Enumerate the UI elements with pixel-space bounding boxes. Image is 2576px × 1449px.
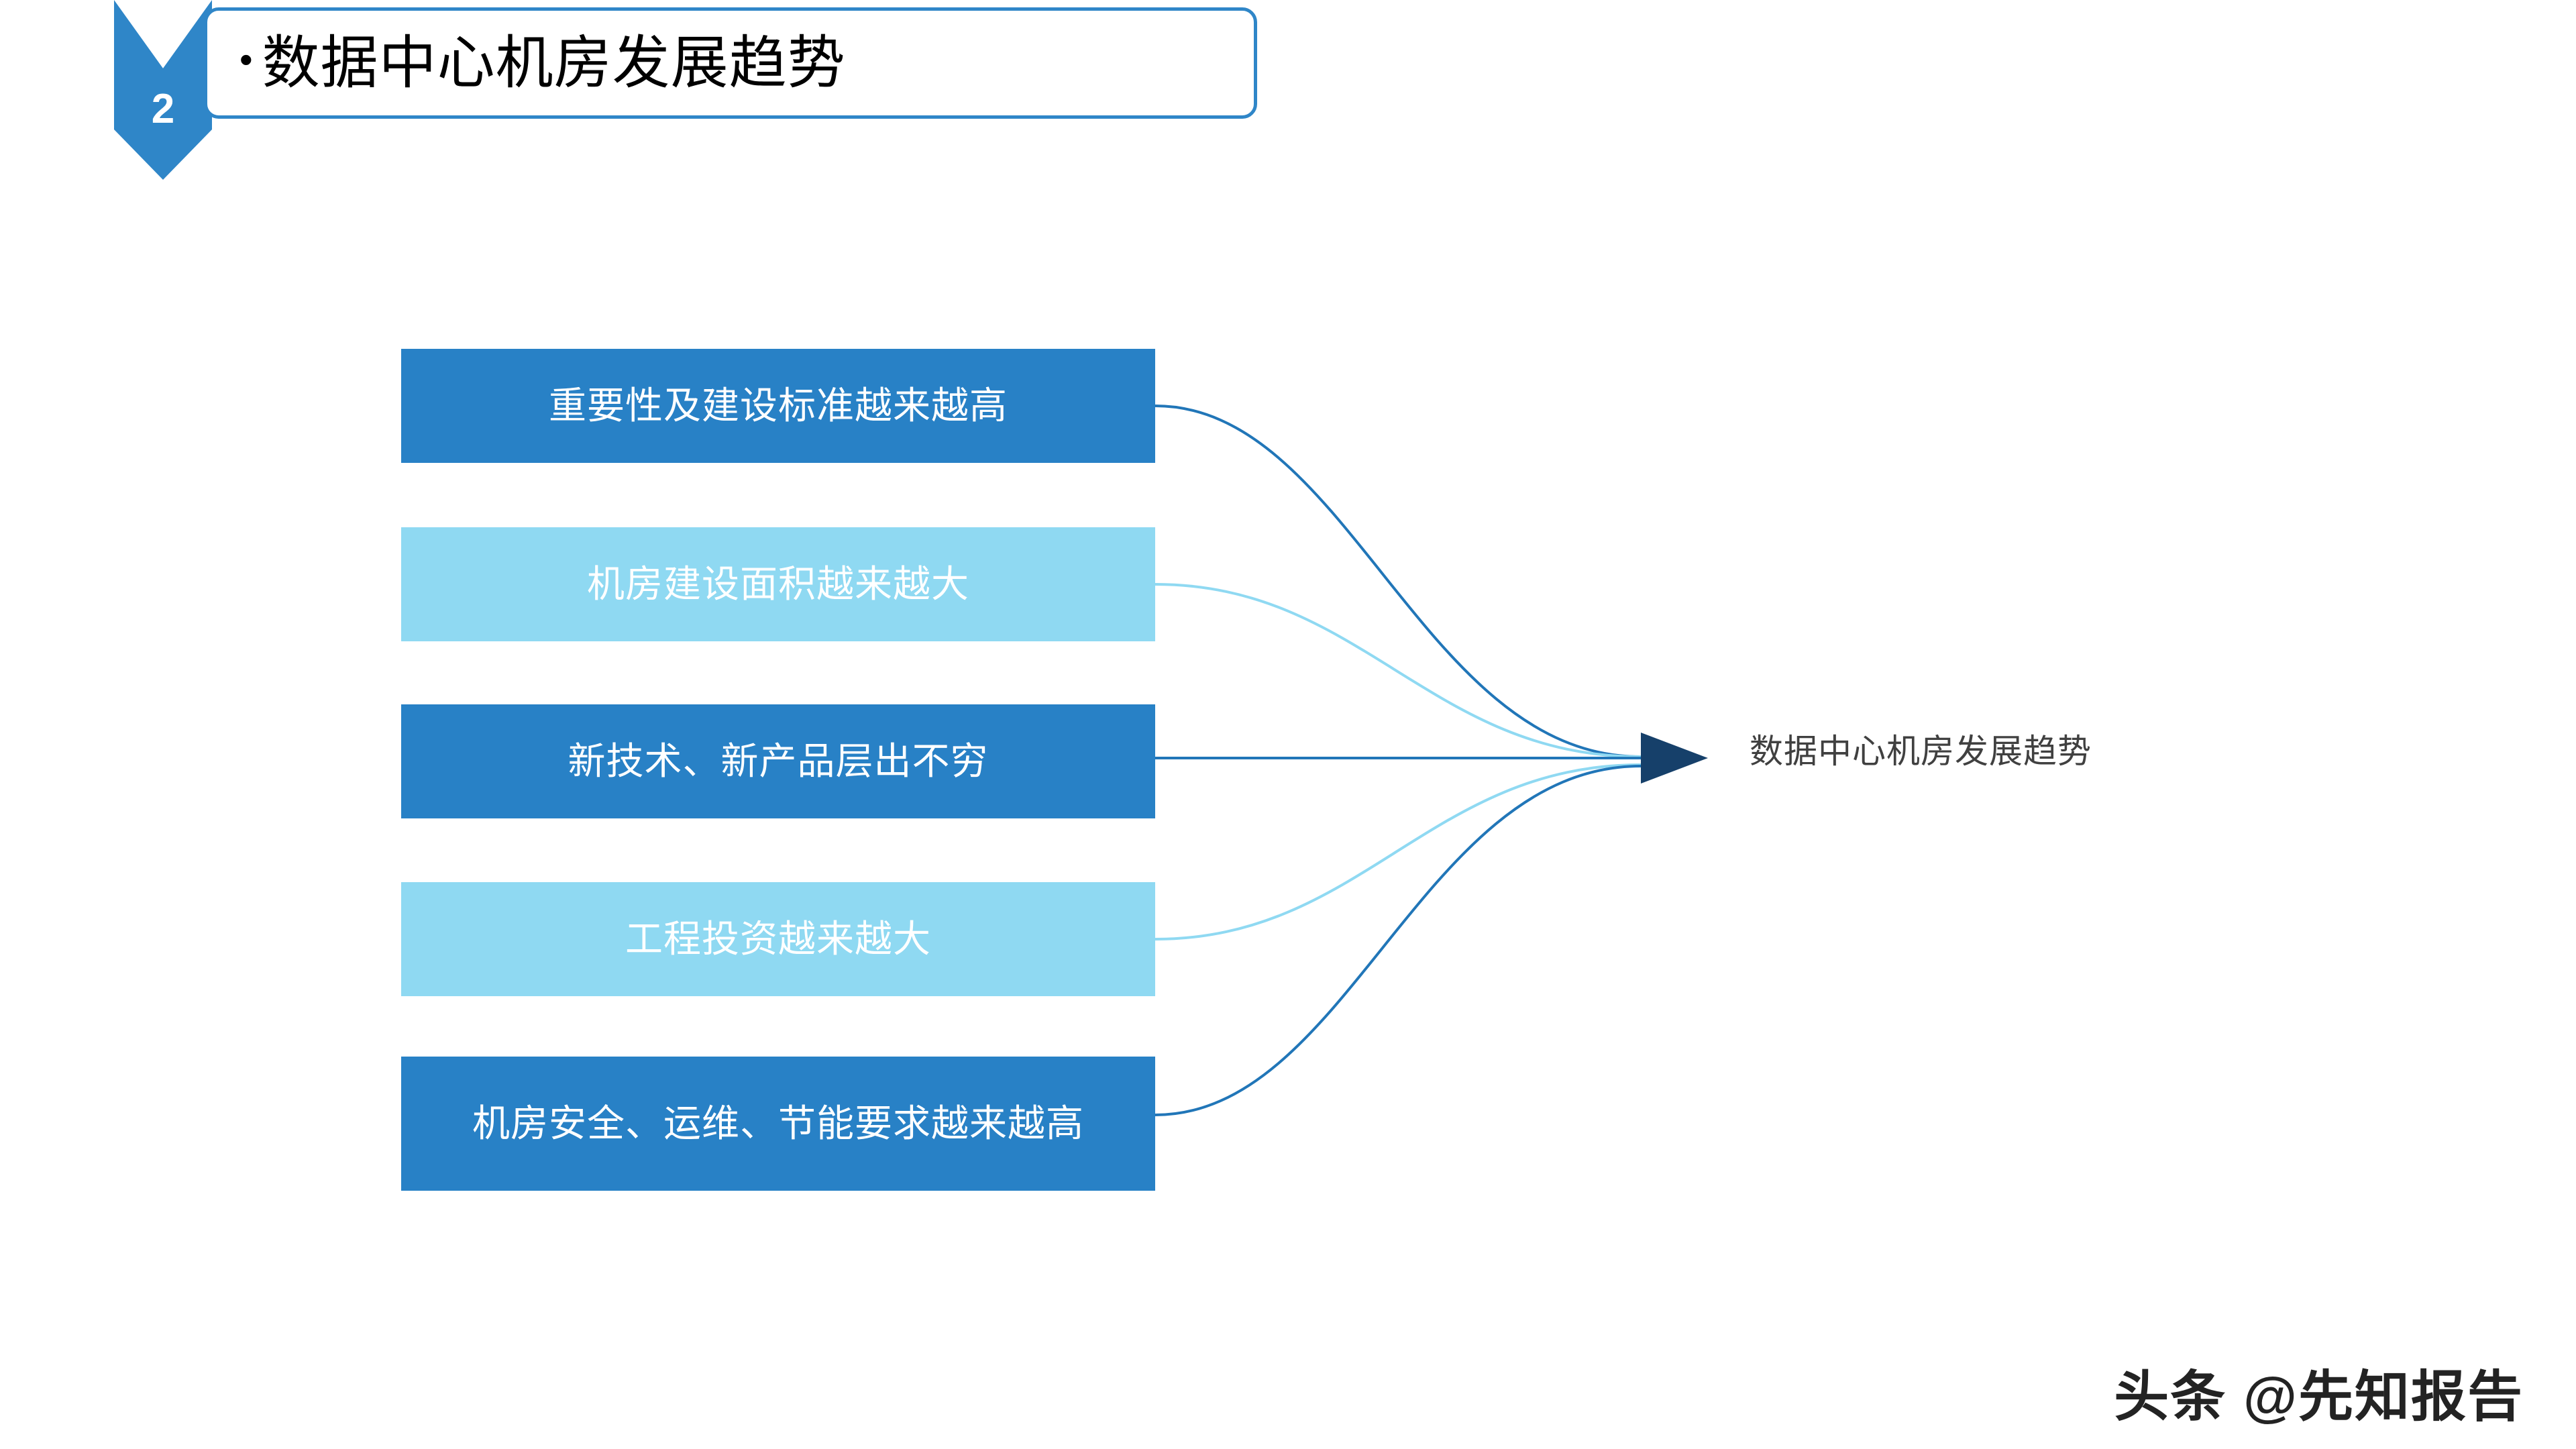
flow-node-4[interactable]: 工程投资越来越大 bbox=[401, 882, 1155, 996]
flow-node-5[interactable]: 机房安全、运维、节能要求越来越高 bbox=[401, 1057, 1155, 1191]
slide-canvas: 2 • 数据中心机房发展趋势 重要性及建设标准越来越高 机房建设面积越来越大 新… bbox=[0, 0, 2576, 1449]
flow-connectors-svg bbox=[0, 0, 2576, 1449]
connector-line-4 bbox=[1155, 765, 1641, 939]
flow-node-3[interactable]: 新技术、新产品层出不穷 bbox=[401, 704, 1155, 818]
connector-line-5 bbox=[1155, 766, 1641, 1115]
right-triangle-arrow-icon bbox=[1641, 733, 1708, 784]
watermark-text: 头条 @先知报告 bbox=[2114, 1370, 2524, 1425]
flow-node-2[interactable]: 机房建设面积越来越大 bbox=[401, 527, 1155, 641]
converging-flow-diagram: 重要性及建设标准越来越高 机房建设面积越来越大 新技术、新产品层出不穷 工程投资… bbox=[0, 0, 2576, 1449]
flow-target-label: 数据中心机房发展趋势 bbox=[1750, 731, 2092, 771]
connector-line-2 bbox=[1155, 584, 1641, 757]
flow-node-1[interactable]: 重要性及建设标准越来越高 bbox=[401, 349, 1155, 463]
connector-line-1 bbox=[1155, 406, 1641, 757]
